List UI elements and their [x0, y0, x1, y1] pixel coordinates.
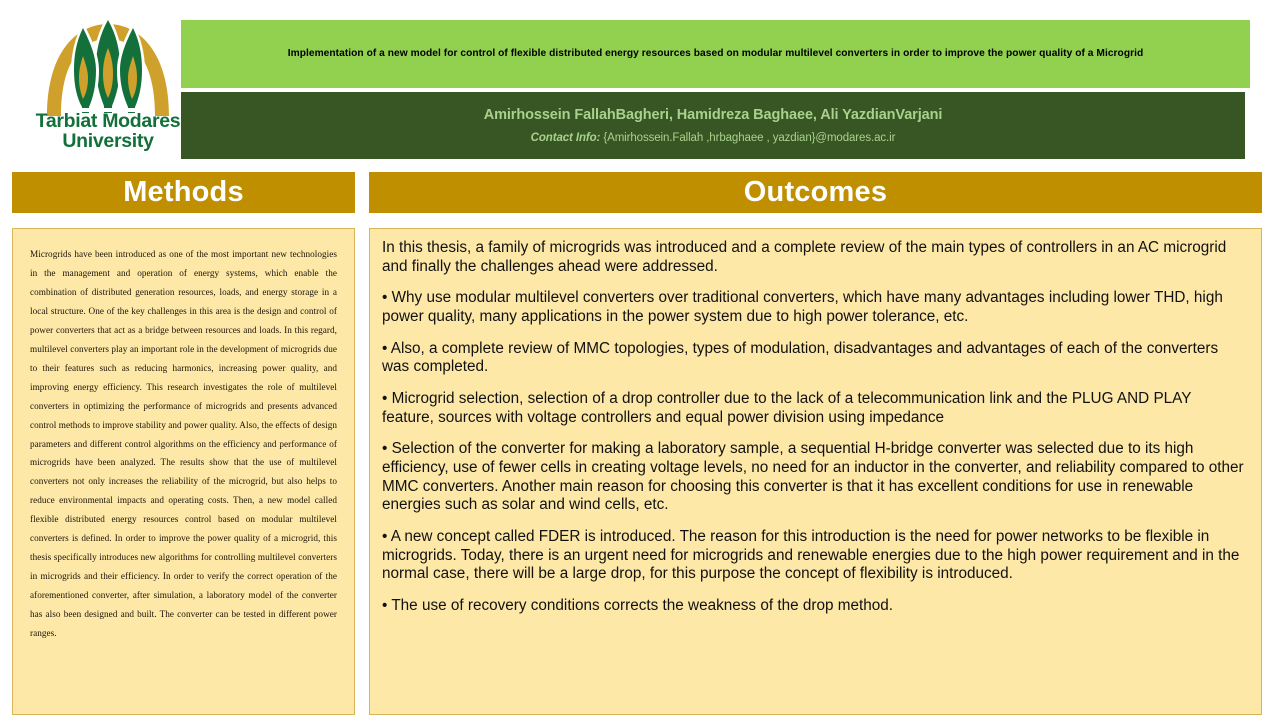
tarbiat-modares-university-logo-icon	[33, 8, 183, 120]
methods-section-header: Methods	[12, 172, 355, 213]
contact-info-value: {Amirhossein.Fallah ,hrbaghaee , yazdian…	[603, 132, 895, 144]
outcomes-section-header: Outcomes	[369, 172, 1262, 213]
methods-header-label: Methods	[123, 176, 244, 209]
university-logo-text: Tarbiat Modares University	[33, 112, 183, 152]
contact-info: Contact Info: {Amirhossein.Fallah ,hrbag…	[531, 132, 896, 144]
outcomes-panel: In this thesis, a family of microgrids w…	[369, 228, 1262, 715]
outcomes-paragraph: In this thesis, a family of microgrids w…	[382, 239, 1247, 276]
outcomes-paragraph: • A new concept called FDER is introduce…	[382, 528, 1247, 584]
outcomes-paragraph: • Also, a complete review of MMC topolog…	[382, 340, 1247, 377]
outcomes-paragraph: • The use of recovery conditions correct…	[382, 597, 1247, 616]
poster-title-bar: Implementation of a new model for contro…	[181, 20, 1250, 88]
outcomes-header-label: Outcomes	[744, 176, 887, 209]
poster-header: Tarbiat Modares University Implementatio…	[0, 0, 1280, 165]
logo-line-1: Tarbiat Modares	[33, 112, 183, 132]
university-logo: Tarbiat Modares University	[33, 8, 183, 160]
outcomes-paragraph: • Microgrid selection, selection of a dr…	[382, 390, 1247, 427]
author-list: Amirhossein FallahBagheri, Hamidreza Bag…	[484, 107, 943, 123]
contact-info-label: Contact Info:	[531, 132, 601, 144]
outcomes-body-text: In this thesis, a family of microgrids w…	[382, 239, 1247, 616]
poster-title: Implementation of a new model for contro…	[282, 48, 1150, 61]
outcomes-paragraph: • Why use modular multilevel converters …	[382, 289, 1247, 326]
outcomes-paragraph: • Selection of the converter for making …	[382, 440, 1247, 515]
logo-line-2: University	[33, 132, 183, 152]
methods-panel: Microgrids have been introduced as one o…	[12, 228, 355, 715]
methods-body-text: Microgrids have been introduced as one o…	[30, 245, 337, 643]
poster-author-bar: Amirhossein FallahBagheri, Hamidreza Bag…	[181, 92, 1245, 159]
